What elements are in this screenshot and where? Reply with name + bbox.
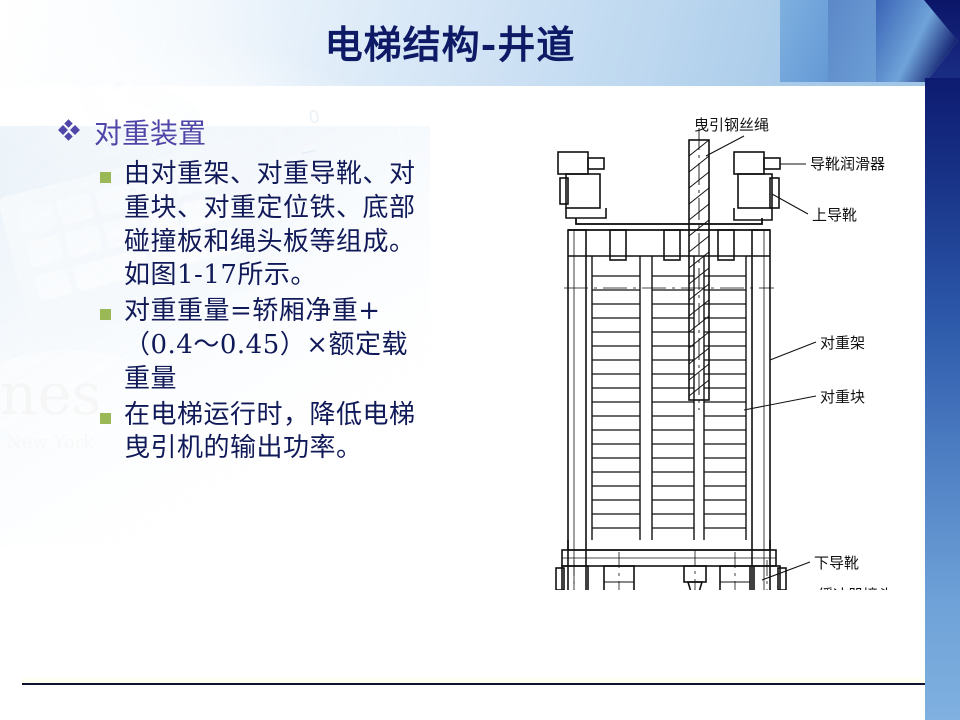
label-traction-rope: 曳引钢丝绳 (694, 116, 769, 134)
counterweight-stack-left (592, 276, 640, 528)
page-title: 电梯结构-井道 (0, 14, 900, 69)
upper-shoe-left-nozzle (588, 158, 604, 169)
upper-shoe-left-base (566, 208, 606, 218)
bullet-text: 由对重架、对重导靴、对 重块、对重定位铁、底部 碰撞板和绳头板等组成。 如图1-… (124, 158, 416, 293)
label-counterweight-frame: 对重架 (820, 334, 865, 352)
label-upper-guide-shoe: 上导靴 (812, 206, 857, 224)
section-heading: 对重装置 (58, 112, 206, 152)
bullet-text: 在电梯运行时，降低电梯 曳引机的输出功率。 (124, 399, 416, 467)
footer-divider (22, 683, 925, 685)
bullet-list: 由对重架、对重导靴、对 重块、对重定位铁、底部 碰撞板和绳头板等组成。 如图1-… (100, 158, 530, 468)
frame-bottom-rail (568, 540, 770, 550)
upper-shoe-right-cap (734, 152, 764, 174)
upper-shoe-right-nozzle (764, 158, 780, 169)
content-area: 对重装置 由对重架、对重导靴、对 重块、对重定位铁、底部 碰撞板和绳头板等组成。… (0, 86, 560, 646)
footer-glow (22, 676, 925, 683)
leader-lines (694, 136, 816, 590)
bullet-line: 在电梯运行时，降低电梯 (124, 400, 416, 430)
upper-shoe-right-base (734, 208, 772, 220)
square-bullet-icon (100, 309, 111, 320)
title-banner: 0 — 电梯结构-井道 (0, 0, 960, 86)
section-heading-label: 对重装置 (94, 112, 206, 152)
upper-shoe-right-body (738, 174, 772, 208)
frame-stile-right (752, 230, 770, 590)
square-bullet-icon (100, 172, 111, 183)
diamond-bullet-icon (58, 119, 80, 141)
diagram-svg: 曳引钢丝绳 导靴润滑器 上导靴 对重架 对重块 下导靴 缓冲器撞头 补偿悬挂装置 (548, 110, 928, 590)
bullet-text: 对重重量=轿厢净重+ （0.4～0.45）×额定载 重量 (124, 295, 408, 396)
list-item: 对重重量=轿厢净重+ （0.4～0.45）×额定载 重量 (100, 295, 530, 396)
counterweight-stack-middle (652, 276, 694, 528)
upper-shoe-left-body (566, 174, 600, 208)
bullet-line: 由对重架、对重导靴、对 (124, 159, 416, 189)
bullet-line: （0.4～0.45）×额定载 (124, 330, 408, 360)
frame-stile-left (568, 230, 586, 590)
upper-shoe-left-cap (558, 152, 588, 174)
label-counterweight-block: 对重块 (820, 388, 865, 406)
list-item: 在电梯运行时，降低电梯 曳引机的输出功率。 (100, 399, 530, 467)
list-item: 由对重架、对重导靴、对 重块、对重定位铁、底部 碰撞板和绳头板等组成。 如图1-… (100, 158, 530, 293)
bullet-line: 重量 (124, 364, 177, 394)
chevron-decor-group (780, 0, 960, 82)
lower-shoe-left (562, 566, 588, 590)
bullet-line: 重块、对重定位铁、底部 (124, 193, 416, 223)
label-lower-guide-shoe: 下导靴 (814, 554, 859, 572)
square-bullet-icon (100, 413, 111, 424)
bullet-line: 碰撞板和绳头板等组成。 (124, 227, 416, 257)
label-buffer-striker: 缓冲器撞头 (818, 586, 893, 590)
bullet-line: 对重重量=轿厢净重+ (124, 296, 381, 326)
slide-canvas: nes New York (0, 0, 960, 720)
right-gradient-bar (925, 78, 960, 720)
bullet-line: 如图1-17所示。 (124, 260, 317, 290)
counterweight-stack-right (704, 276, 746, 528)
diagram-labels: 曳引钢丝绳 导靴润滑器 上导靴 对重架 对重块 下导靴 缓冲器撞头 补偿悬挂装置 (658, 116, 893, 590)
label-shoe-lubricator: 导靴润滑器 (810, 155, 885, 173)
bullet-line: 曳引机的输出功率。 (124, 433, 363, 463)
chevron-svg (780, 0, 960, 86)
counterweight-assembly-diagram: 曳引钢丝绳 导靴润滑器 上导靴 对重架 对重块 下导靴 缓冲器撞头 补偿悬挂装置 (548, 110, 928, 590)
